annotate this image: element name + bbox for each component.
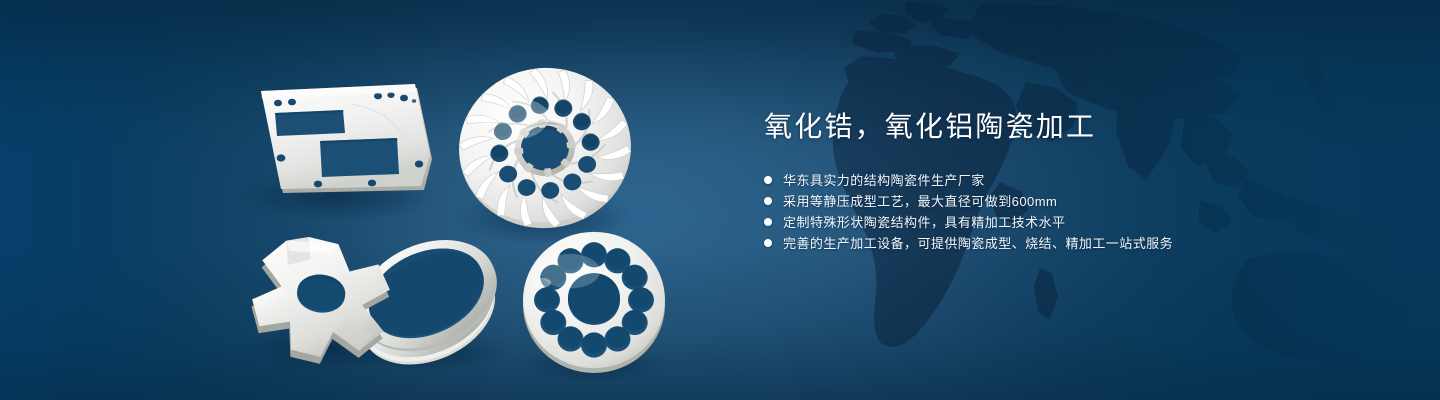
list-item: 华东具实力的结构陶瓷件生产厂家 — [764, 170, 1364, 191]
list-item: 完善的生产加工设备，可提供陶瓷成型、烧结、精加工一站式服务 — [764, 233, 1364, 254]
ceramic-products-group — [0, 0, 760, 400]
list-item-label: 定制特殊形状陶瓷结构件，具有精加工技术水平 — [783, 212, 1065, 233]
filled-circle-icon — [764, 239, 772, 247]
feature-list: 华东具实力的结构陶瓷件生产厂家 采用等静压成型工艺，最大直径可做到600mm 定… — [764, 170, 1364, 254]
list-item: 定制特殊形状陶瓷结构件，具有精加工技术水平 — [764, 212, 1364, 233]
filled-circle-icon — [764, 176, 772, 184]
list-item-label: 完善的生产加工设备，可提供陶瓷成型、烧结、精加工一站式服务 — [783, 233, 1173, 254]
hero-banner: 氧化锆，氧化铝陶瓷加工 华东具实力的结构陶瓷件生产厂家 采用等静压成型工艺，最大… — [0, 0, 1440, 400]
page-title: 氧化锆，氧化铝陶瓷加工 — [764, 110, 1364, 145]
banner-copy: 氧化锆，氧化铝陶瓷加工 华东具实力的结构陶瓷件生产厂家 采用等静压成型工艺，最大… — [764, 110, 1364, 254]
product-perforated-annular-disc — [523, 232, 665, 373]
list-item-label: 采用等静压成型工艺，最大直径可做到600mm — [783, 191, 1057, 212]
filled-circle-icon — [764, 197, 772, 205]
list-item-label: 华东具实力的结构陶瓷件生产厂家 — [783, 170, 985, 191]
list-item: 采用等静压成型工艺，最大直径可做到600mm — [764, 191, 1364, 212]
filled-circle-icon — [764, 218, 772, 226]
product-flat-machined-plate — [261, 84, 432, 193]
